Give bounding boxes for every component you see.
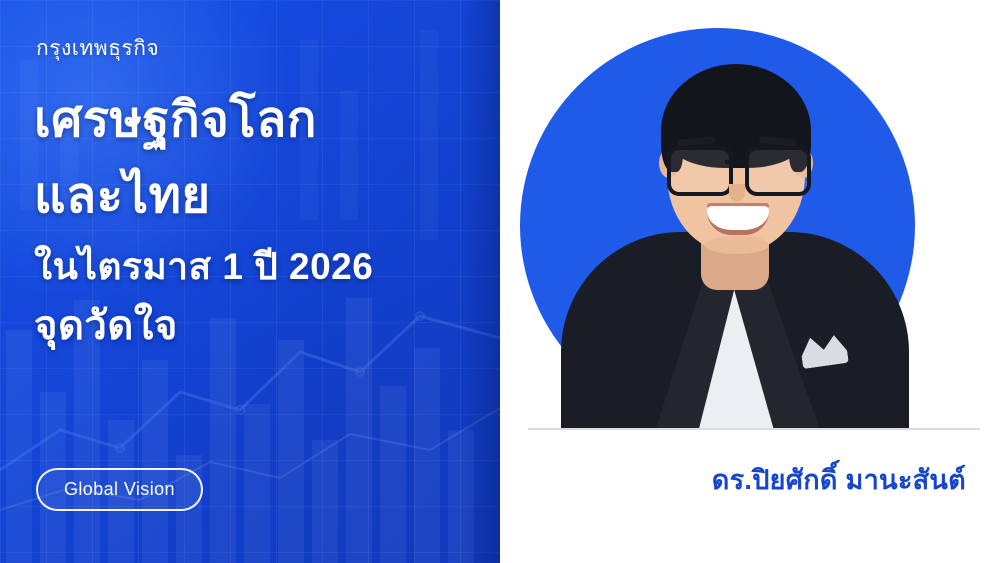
program-badge: Global Vision	[36, 468, 203, 511]
eyeglasses-icon	[663, 146, 811, 188]
right-white-panel: ดร.ปิยศักดิ์ มานะสันต์	[500, 0, 1000, 563]
headline-line-3: ในไตรมาส 1 ปี 2026	[34, 248, 484, 287]
glasses-lens-right	[745, 146, 811, 196]
headline-line-4: จุดวัดใจ	[34, 305, 484, 347]
headline-line-2: และไทย	[34, 172, 484, 222]
brand-logo-text: กรุงเทพธุรกิจ	[36, 32, 159, 65]
portrait-nose	[729, 184, 745, 202]
speaker-name: ดร.ปิยศักดิ์ มานะสันต์	[500, 458, 966, 501]
promo-banner: กรุงเทพธุรกิจ เศรษฐกิจโลก และไทย ในไตรมา…	[0, 0, 1000, 563]
headline-line-1: เศรษฐกิจโลก	[34, 96, 484, 146]
headline-block: เศรษฐกิจโลก และไทย ในไตรมาส 1 ปี 2026 จุ…	[34, 96, 484, 347]
horizontal-divider	[528, 428, 980, 430]
speaker-portrait	[555, 24, 915, 428]
glasses-bridge	[725, 160, 747, 164]
left-blue-panel: กรุงเทพธุรกิจ เศรษฐกิจโลก และไทย ในไตรมา…	[0, 0, 500, 563]
glasses-lens-left	[667, 146, 733, 196]
portrait-chin	[705, 236, 769, 254]
